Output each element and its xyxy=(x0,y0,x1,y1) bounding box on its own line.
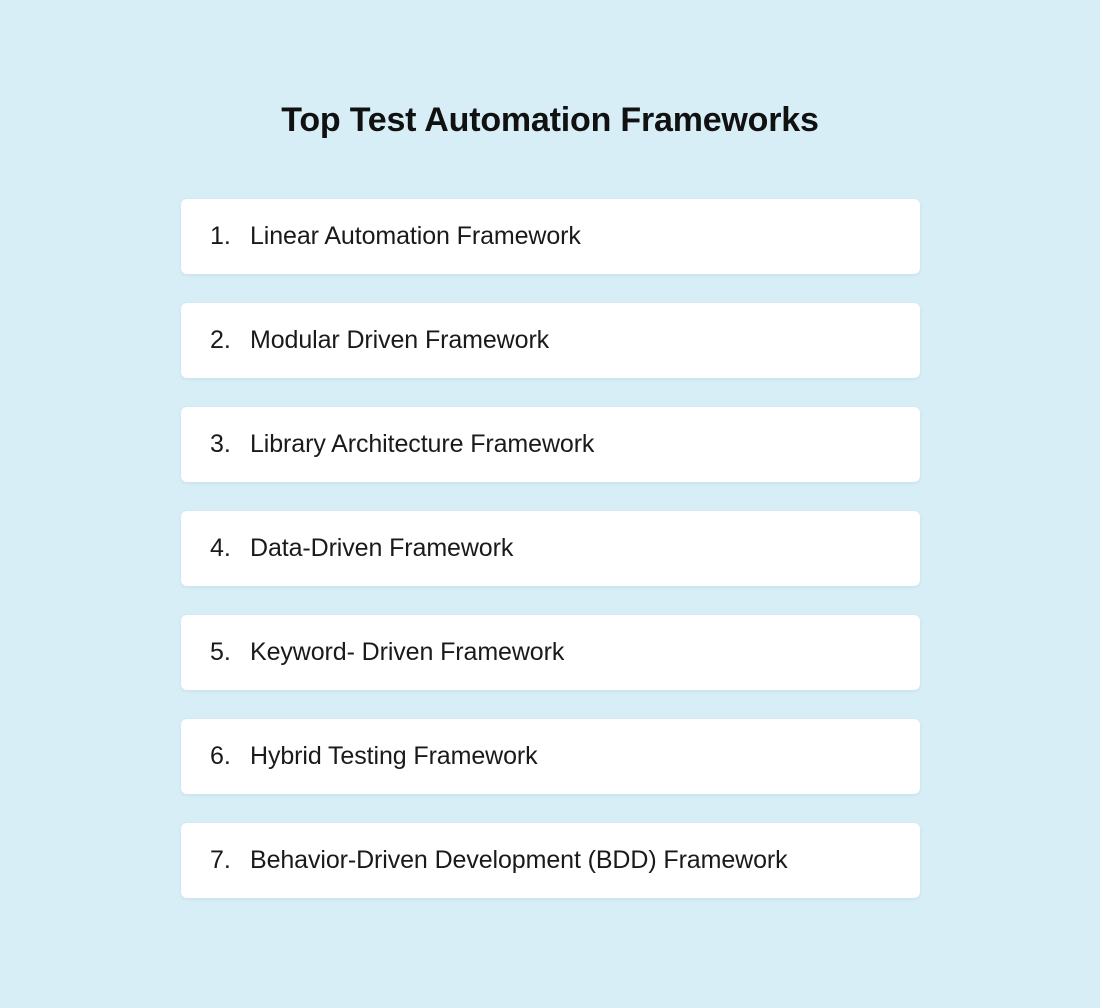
list-item[interactable]: 6. Hybrid Testing Framework xyxy=(181,719,920,794)
page-title: Top Test Automation Frameworks xyxy=(0,99,1100,141)
list-item-number: 1. xyxy=(210,224,250,249)
poster-canvas: Top Test Automation Frameworks 1. Linear… xyxy=(0,0,1100,1008)
framework-list: 1. Linear Automation Framework 2. Modula… xyxy=(181,199,920,898)
list-item-number: 3. xyxy=(210,432,250,457)
list-item-label: Behavior-Driven Development (BDD) Framew… xyxy=(250,848,788,873)
list-item-number: 6. xyxy=(210,744,250,769)
list-item-label: Data-Driven Framework xyxy=(250,536,513,561)
list-item-label: Linear Automation Framework xyxy=(250,224,581,249)
list-item-number: 7. xyxy=(210,848,250,873)
list-item[interactable]: 1. Linear Automation Framework xyxy=(181,199,920,274)
list-item-number: 4. xyxy=(210,536,250,561)
list-item[interactable]: 2. Modular Driven Framework xyxy=(181,303,920,378)
list-item-label: Library Architecture Framework xyxy=(250,432,594,457)
list-item[interactable]: 4. Data-Driven Framework xyxy=(181,511,920,586)
list-item-number: 2. xyxy=(210,328,250,353)
list-item[interactable]: 5. Keyword- Driven Framework xyxy=(181,615,920,690)
list-item-number: 5. xyxy=(210,640,250,665)
list-item-label: Hybrid Testing Framework xyxy=(250,744,538,769)
list-item[interactable]: 3. Library Architecture Framework xyxy=(181,407,920,482)
list-item[interactable]: 7. Behavior-Driven Development (BDD) Fra… xyxy=(181,823,920,898)
list-item-label: Keyword- Driven Framework xyxy=(250,640,564,665)
list-item-label: Modular Driven Framework xyxy=(250,328,549,353)
